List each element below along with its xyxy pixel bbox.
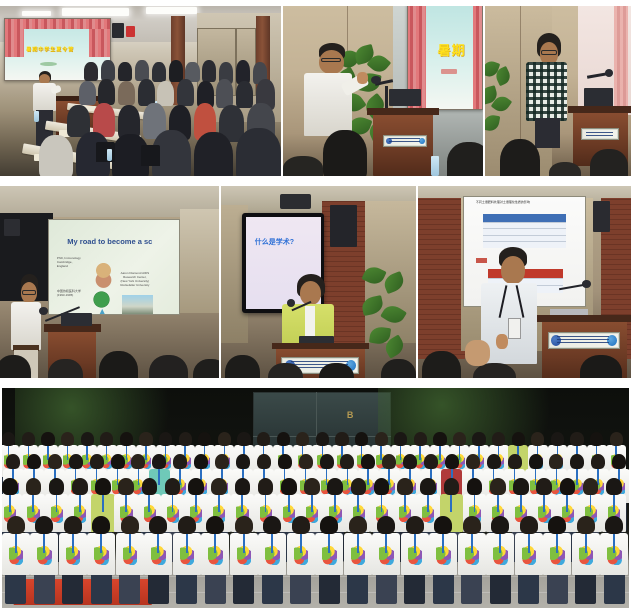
group-photo-person — [144, 516, 173, 604]
person-legs — [290, 574, 311, 604]
person-legs — [575, 574, 596, 604]
person-lanyard — [385, 534, 387, 553]
wall-speaker — [593, 201, 610, 232]
person-hair — [420, 478, 436, 495]
person-lanyard — [218, 495, 220, 512]
person-lanyard — [300, 534, 302, 553]
slide-line: (1993-1995) — [57, 293, 73, 297]
person-hair — [277, 432, 290, 446]
person-lanyard — [148, 495, 150, 512]
id-badge — [508, 318, 520, 338]
person-hair — [218, 432, 231, 446]
person-legs — [262, 574, 283, 604]
person-hair — [304, 478, 320, 495]
person-hair — [606, 478, 622, 495]
foreground-head — [447, 142, 483, 176]
right-wall — [180, 209, 219, 313]
table-header-row — [483, 214, 566, 222]
person-hair — [292, 516, 310, 534]
group-photo-person — [457, 516, 486, 604]
person-hair — [173, 454, 187, 469]
person-hair — [570, 454, 584, 469]
photo-student-presenter[interactable]: 不同土壤肥料处理对土壤理化性质的影响 — [418, 186, 631, 378]
person-hair — [491, 516, 509, 534]
podium-top — [537, 315, 631, 323]
curtain-right — [614, 6, 629, 111]
exit-sign — [126, 26, 134, 36]
person-lanyard — [32, 495, 34, 512]
slide-text-bottom: 中国协和医科大学 (1993-1995) — [57, 290, 81, 298]
person-hair — [61, 432, 74, 446]
person-legs — [518, 574, 539, 604]
person-legs — [547, 574, 568, 604]
person-lanyard — [186, 534, 188, 553]
ceiling-light — [22, 11, 50, 16]
group-photo-person — [286, 516, 315, 604]
photo-female-speaker[interactable] — [485, 6, 631, 176]
group-photo-person — [258, 516, 287, 604]
person-hair — [463, 516, 481, 534]
person-hair — [433, 432, 446, 446]
person-lanyard — [271, 534, 273, 553]
tv-screen-text: 什么是学术? — [255, 237, 294, 247]
foreground-head — [590, 149, 628, 176]
person-hair — [131, 454, 145, 469]
microphone-head — [371, 76, 381, 85]
ceiling-light — [62, 8, 129, 17]
person-lanyard — [102, 495, 104, 512]
person-legs — [404, 574, 425, 604]
raised-hand — [465, 340, 491, 367]
person-lanyard — [585, 534, 587, 553]
person-hair — [235, 516, 253, 534]
person-legs — [5, 574, 26, 604]
person-lanyard — [474, 495, 476, 512]
person-hair — [7, 516, 25, 534]
water-bottle — [431, 156, 439, 176]
chair-back — [141, 145, 161, 165]
group-photo-person — [486, 516, 515, 604]
person-hair — [375, 432, 388, 446]
person-legs — [376, 574, 397, 604]
person-hair — [355, 432, 368, 446]
person-hair — [612, 454, 626, 469]
person-hair — [235, 478, 251, 495]
foreground-head — [323, 130, 367, 176]
group-photo-person — [372, 516, 401, 604]
audience-member — [152, 62, 166, 82]
person-hair — [90, 454, 104, 469]
wall-speaker — [330, 205, 357, 247]
person-lanyard — [288, 495, 290, 512]
foreground-head — [225, 355, 260, 378]
audience-member — [98, 79, 115, 105]
screen-title-text: 暑期 — [438, 40, 466, 59]
photo-lecturer-with-slide[interactable]: My road to become a sc PhD, Immunology C… — [0, 186, 219, 378]
laptop — [61, 313, 92, 326]
person-hair — [49, 478, 65, 495]
person-legs — [91, 574, 112, 604]
person-hair — [536, 478, 552, 495]
person-hair — [120, 432, 133, 446]
person-lanyard — [442, 534, 444, 553]
speaker-arm — [50, 85, 62, 95]
slide-line: Rockefeller University — [120, 283, 149, 287]
person-hair — [453, 432, 466, 446]
foreground-head — [549, 162, 581, 176]
person-lanyard — [357, 534, 359, 553]
laptop — [389, 89, 421, 106]
person-lanyard — [172, 495, 174, 512]
slide-text-left: PhD, Immunology Cambridge, England — [57, 257, 81, 268]
group-photo-person — [2, 516, 30, 604]
collage-row-group-photo: B — [0, 388, 631, 608]
person-hair — [434, 516, 452, 534]
person-hair — [377, 516, 395, 534]
person-hair — [414, 432, 427, 446]
person-hair — [64, 516, 82, 534]
group-photo-person — [429, 516, 458, 604]
microphone-head — [582, 280, 591, 288]
collage-row-middle: My road to become a sc PhD, Immunology C… — [0, 186, 631, 378]
foreground-head — [283, 156, 323, 176]
wall-speaker — [4, 219, 19, 236]
person-lanyard — [556, 534, 558, 553]
group-photo-person — [172, 516, 201, 604]
person-lanyard — [79, 495, 81, 512]
person-hair — [512, 432, 525, 446]
speaker-trousers — [535, 118, 561, 147]
person-lanyard — [414, 534, 416, 553]
person-hair — [444, 478, 460, 495]
person-hair — [299, 454, 313, 469]
ceiling-light — [146, 7, 197, 14]
person-hair — [548, 516, 566, 534]
audience-member — [236, 81, 253, 108]
group-photo-person — [229, 516, 258, 604]
group-photo-crowd — [2, 388, 629, 608]
person-lanyard — [427, 495, 429, 512]
person-hair — [152, 454, 166, 469]
person-hair — [316, 432, 329, 446]
person-hair — [605, 516, 623, 534]
group-photo-person — [87, 516, 116, 604]
lectern-top — [367, 108, 439, 115]
photo-group-portrait[interactable]: B — [2, 388, 629, 608]
person-hair — [424, 454, 438, 469]
photo-male-speaker[interactable]: 暑期 — [283, 6, 483, 176]
person-lanyard — [404, 495, 406, 512]
person-hair — [263, 516, 281, 534]
person-lanyard — [613, 495, 615, 512]
person-hair — [139, 432, 152, 446]
person-hair — [215, 454, 229, 469]
person-lanyard — [265, 495, 267, 512]
person-hair — [111, 454, 125, 469]
person-lanyard — [520, 495, 522, 512]
person-hair — [335, 432, 348, 446]
person-hair — [466, 454, 480, 469]
person-legs — [490, 574, 511, 604]
person-hair — [278, 454, 292, 469]
lectern-plaque — [581, 128, 619, 140]
table-row — [483, 222, 566, 229]
person-lanyard — [157, 534, 159, 553]
person-hair — [69, 454, 83, 469]
person-hair — [178, 516, 196, 534]
person-hair — [159, 432, 172, 446]
person-hair — [257, 454, 271, 469]
group-photo-person — [543, 516, 572, 604]
person-lanyard — [100, 534, 102, 553]
person-hair — [92, 516, 110, 534]
audience-member — [118, 81, 135, 105]
person-hair — [41, 432, 54, 446]
person-hair — [349, 516, 367, 534]
chair-back — [96, 142, 116, 162]
person-legs — [233, 574, 254, 604]
person-hair — [81, 432, 94, 446]
person-hair — [560, 478, 576, 495]
person-hair — [529, 454, 543, 469]
screen-subtitle — [441, 69, 457, 73]
audience-member — [236, 128, 281, 176]
screen-graphic — [40, 62, 57, 66]
person-hair — [188, 478, 204, 495]
person-hair — [583, 478, 599, 495]
person-hair — [320, 454, 334, 469]
person-legs — [34, 574, 55, 604]
screen-title-text: 暑期中学生夏令营 — [26, 46, 74, 53]
person-hair — [513, 478, 529, 495]
foreground-head — [500, 139, 541, 176]
glasses — [321, 58, 341, 62]
audience-member — [101, 60, 115, 80]
microphone-head — [39, 307, 48, 315]
lectern-plaque — [383, 135, 427, 147]
person-lanyard — [72, 534, 74, 553]
person-lanyard — [357, 495, 359, 512]
person-hair — [198, 432, 211, 446]
person-hair — [327, 478, 343, 495]
speaker-plaid-shirt — [526, 62, 567, 120]
slide-photo — [122, 295, 153, 314]
foreground-head — [422, 351, 460, 378]
person-hair — [100, 432, 113, 446]
photo-speaker-with-tv[interactable]: 什么是学术? — [221, 186, 416, 378]
presenter-hand — [496, 334, 508, 349]
person-hair — [2, 478, 18, 495]
person-hair — [520, 516, 538, 534]
slide-heading: My road to become a sc — [67, 237, 152, 246]
person-lanyard — [543, 495, 545, 512]
photo-lecture-hall-wide[interactable]: 暑期中学生夏令营 — [0, 6, 281, 176]
podium-top — [272, 343, 370, 349]
person-legs — [205, 574, 226, 604]
person-hair — [236, 454, 250, 469]
person-hair — [320, 516, 338, 534]
plaque-text — [389, 138, 421, 144]
curtain-right — [473, 6, 483, 109]
audience-member — [194, 132, 233, 176]
water-bottle — [107, 149, 113, 161]
person-hair — [165, 478, 181, 495]
audience-member — [202, 60, 216, 82]
person-lanyard — [56, 495, 58, 512]
lectern-top — [568, 106, 631, 113]
wall-speaker — [112, 23, 123, 38]
person-hair — [206, 516, 224, 534]
person-legs — [62, 574, 83, 604]
person-lanyard — [214, 534, 216, 553]
group-photo-person — [315, 516, 344, 604]
table-row — [483, 228, 566, 235]
person-hair — [531, 432, 544, 446]
person-hair — [570, 432, 583, 446]
glasses — [22, 290, 35, 294]
person-lanyard — [528, 534, 530, 553]
plant-leaf — [485, 114, 501, 132]
person-hair — [591, 454, 605, 469]
person-hair — [551, 432, 564, 446]
person-hair — [490, 478, 506, 495]
person-hair — [6, 454, 20, 469]
person-lanyard — [129, 534, 131, 553]
person-lanyard — [243, 534, 245, 553]
lecturer-shirt — [11, 302, 41, 349]
person-lanyard — [125, 495, 127, 512]
audience-member — [135, 60, 149, 80]
person-hair — [95, 478, 111, 495]
person-hair — [22, 432, 35, 446]
person-legs — [176, 574, 197, 604]
projected-slide: My road to become a sc PhD, Immunology C… — [48, 219, 179, 315]
person-hair — [382, 454, 396, 469]
person-hair — [590, 432, 603, 446]
person-lanyard — [381, 495, 383, 512]
group-photo-person — [115, 516, 144, 604]
person-hair — [487, 454, 501, 469]
person-hair — [2, 432, 15, 446]
person-hair — [26, 478, 42, 495]
person-hair — [403, 454, 417, 469]
audience-member — [39, 135, 73, 176]
person-legs — [433, 574, 454, 604]
plaque-text — [586, 132, 613, 138]
person-lanyard — [334, 495, 336, 512]
person-lanyard — [499, 534, 501, 553]
person-hair — [258, 478, 274, 495]
glasses — [541, 50, 557, 54]
person-lanyard — [566, 495, 568, 512]
curtain-top — [5, 19, 110, 29]
university-crest-icon — [93, 257, 114, 289]
person-hair — [194, 454, 208, 469]
person-hair — [351, 478, 367, 495]
person-lanyard — [328, 534, 330, 553]
group-photo-person — [343, 516, 372, 604]
group-photo-person — [514, 516, 543, 604]
potted-plant — [361, 263, 412, 371]
plaque-text — [557, 336, 610, 345]
person-hair — [467, 478, 483, 495]
brick-wall — [418, 198, 465, 359]
audience-member — [177, 79, 194, 106]
person-hair — [118, 478, 134, 495]
person-hair — [549, 454, 563, 469]
speaker-head — [319, 50, 344, 74]
person-hair — [577, 516, 595, 534]
person-legs — [119, 574, 140, 604]
person-hair — [397, 478, 413, 495]
potted-plant — [485, 57, 517, 145]
person-lanyard — [497, 495, 499, 512]
audience-member — [118, 62, 132, 81]
presenter-head — [501, 256, 526, 284]
person-hair — [296, 432, 309, 446]
person-legs — [461, 574, 482, 604]
person-legs — [347, 574, 368, 604]
person-hair — [257, 432, 270, 446]
person-hair — [237, 432, 250, 446]
person-lanyard — [15, 534, 17, 553]
person-hair — [361, 454, 375, 469]
logo-blue-triangle-icon — [96, 309, 109, 315]
logo-green-circle-icon — [93, 289, 110, 310]
photo-collage: 暑期中学生夏令营 — [0, 0, 631, 612]
group-photo-person — [571, 516, 600, 604]
water-bottle — [34, 111, 40, 121]
person-lanyard — [613, 534, 615, 553]
microphone-head — [287, 299, 295, 307]
person-hair — [340, 454, 354, 469]
group-photo-person — [30, 516, 59, 604]
person-legs — [604, 574, 625, 604]
slide-title: 不同土壤肥料处理对土壤理化性质的影响 — [476, 201, 530, 205]
person-lanyard — [241, 495, 243, 512]
person-hair — [394, 432, 407, 446]
person-hair — [610, 432, 623, 446]
podium-plaque — [548, 332, 620, 349]
table-row — [483, 235, 566, 242]
person-hair — [121, 516, 139, 534]
slide-text-right: Aaron Diamond AIDS Research Center, (New… — [120, 272, 149, 287]
slide-line: England — [57, 264, 68, 268]
foreground-head — [99, 351, 138, 378]
person-hair — [492, 432, 505, 446]
group-photo-person — [400, 516, 429, 604]
person-lanyard — [590, 495, 592, 512]
person-hair — [179, 432, 192, 446]
person-lanyard — [9, 495, 11, 512]
person-hair — [149, 516, 167, 534]
audience-member — [79, 81, 96, 105]
group-photo-person — [600, 516, 629, 604]
person-hair — [374, 478, 390, 495]
ceiling-projector — [280, 194, 311, 209]
plant-leaf — [380, 301, 407, 327]
person-lanyard — [471, 534, 473, 553]
person-hair — [472, 432, 485, 446]
person-lanyard — [195, 495, 197, 512]
audience-member — [216, 79, 233, 108]
person-hair — [508, 454, 522, 469]
laptop — [584, 88, 613, 108]
person-hair — [72, 478, 88, 495]
group-photo-person — [58, 516, 87, 604]
speaker-hand — [357, 72, 368, 84]
person-hair — [142, 478, 158, 495]
